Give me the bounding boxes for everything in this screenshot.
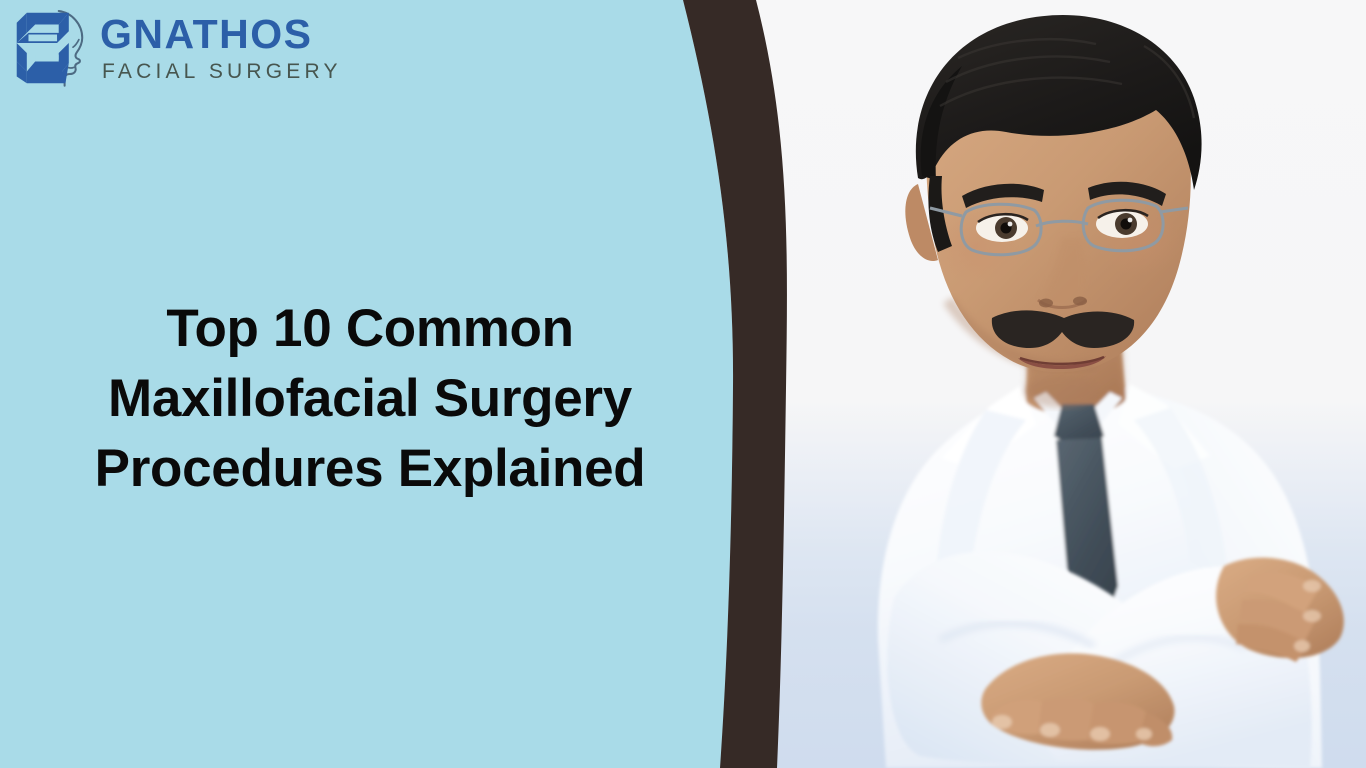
page-title: Top 10 Common Maxillofacial Surgery Proc… — [40, 294, 700, 505]
headline-line-3: Procedures Explained — [40, 434, 700, 504]
headline-line-1: Top 10 Common — [40, 294, 700, 364]
blog-banner: GNATHOS FACIAL SURGERY Top 10 Common Max… — [0, 0, 1366, 768]
brand-name: GNATHOS — [100, 14, 342, 55]
gnathos-monogram-face-profile-icon — [10, 6, 94, 90]
brand-logo[interactable]: GNATHOS FACIAL SURGERY — [10, 6, 342, 90]
teal-panel: GNATHOS FACIAL SURGERY Top 10 Common Max… — [0, 0, 800, 768]
brand-tagline: FACIAL SURGERY — [100, 59, 342, 84]
logo-wordmark: GNATHOS FACIAL SURGERY — [100, 12, 342, 84]
headline-line-2: Maxillofacial Surgery — [40, 364, 700, 434]
